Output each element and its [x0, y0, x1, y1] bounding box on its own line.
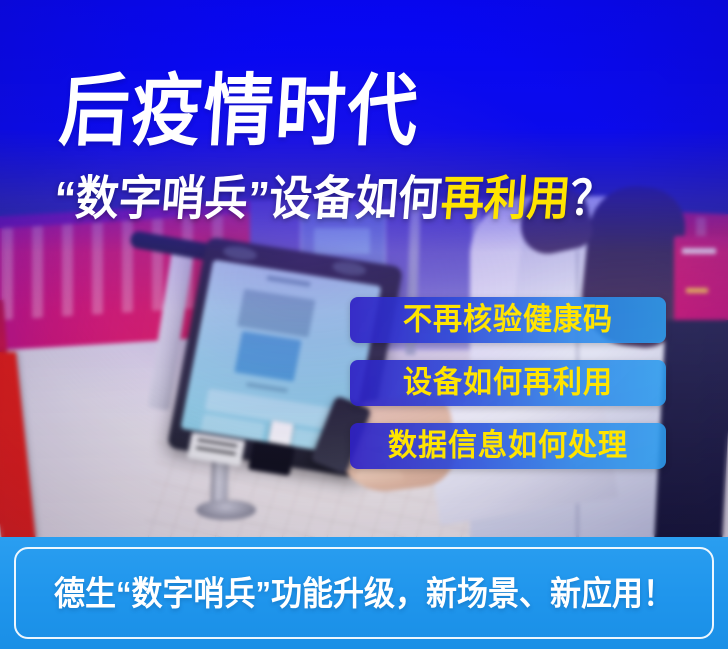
kiosk-camera-left	[222, 244, 258, 262]
banner-frame: 德生“数字哨兵”功能升级，新场景、新应用！	[14, 547, 714, 639]
topic-pill-2[interactable]: 设备如何再利用	[350, 360, 666, 406]
screen-qr-code	[234, 331, 301, 382]
banner-headline: 德生“数字哨兵”功能升级，新场景、新应用！	[54, 576, 674, 609]
screen-text-block	[237, 289, 315, 338]
kiosk-camera-right	[331, 259, 367, 277]
sign-line	[686, 288, 708, 293]
sign-line	[682, 248, 716, 254]
barrier-slat	[32, 226, 43, 319]
pink-wall-sign	[674, 236, 728, 324]
topic-pill-list: 不再核验健康码 设备如何再利用 数据信息如何处理	[350, 297, 666, 469]
barrier-slat	[62, 224, 73, 317]
barrier-slat	[92, 222, 103, 315]
screen-title-bar	[266, 275, 310, 287]
finger	[356, 469, 404, 486]
barrier-slat	[152, 218, 163, 311]
screen-caption-line	[246, 382, 288, 393]
kiosk-base	[196, 500, 256, 520]
topic-pill-label: 不再核验健康码	[403, 305, 613, 335]
kiosk-card-slot	[268, 420, 293, 445]
topic-pill-label: 设备如何再利用	[403, 368, 613, 398]
poster-root: 后疫情时代 “数字哨兵”设备如何再利用？ 不再核验健康码 设备如何再利用 数据信…	[0, 0, 728, 649]
topic-pill-3[interactable]: 数据信息如何处理	[350, 423, 666, 469]
topic-pill-label: 数据信息如何处理	[388, 431, 628, 461]
topic-pill-1[interactable]: 不再核验健康码	[350, 297, 666, 343]
bottom-banner: 德生“数字哨兵”功能升级，新场景、新应用！	[0, 537, 728, 649]
glass-door-sign	[314, 228, 370, 254]
